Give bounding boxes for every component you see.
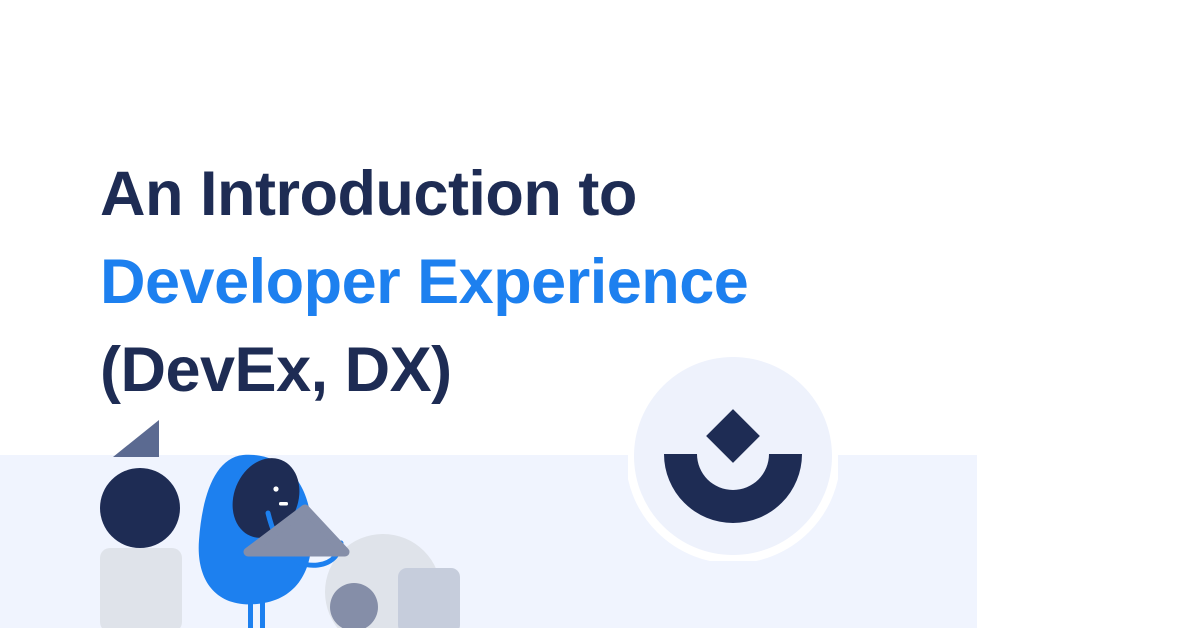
title-line-3: (DevEx, DX)	[100, 326, 1000, 414]
slate-triangle-icon	[113, 420, 159, 457]
page-title: An Introduction to Developer Experience …	[100, 150, 1000, 414]
devex-logo-badge	[628, 351, 838, 561]
title-line-2-accent: Developer Experience	[100, 238, 1000, 326]
og-image-canvas: An Introduction to Developer Experience …	[0, 0, 1200, 628]
title-line-1: An Introduction to	[100, 150, 1000, 238]
